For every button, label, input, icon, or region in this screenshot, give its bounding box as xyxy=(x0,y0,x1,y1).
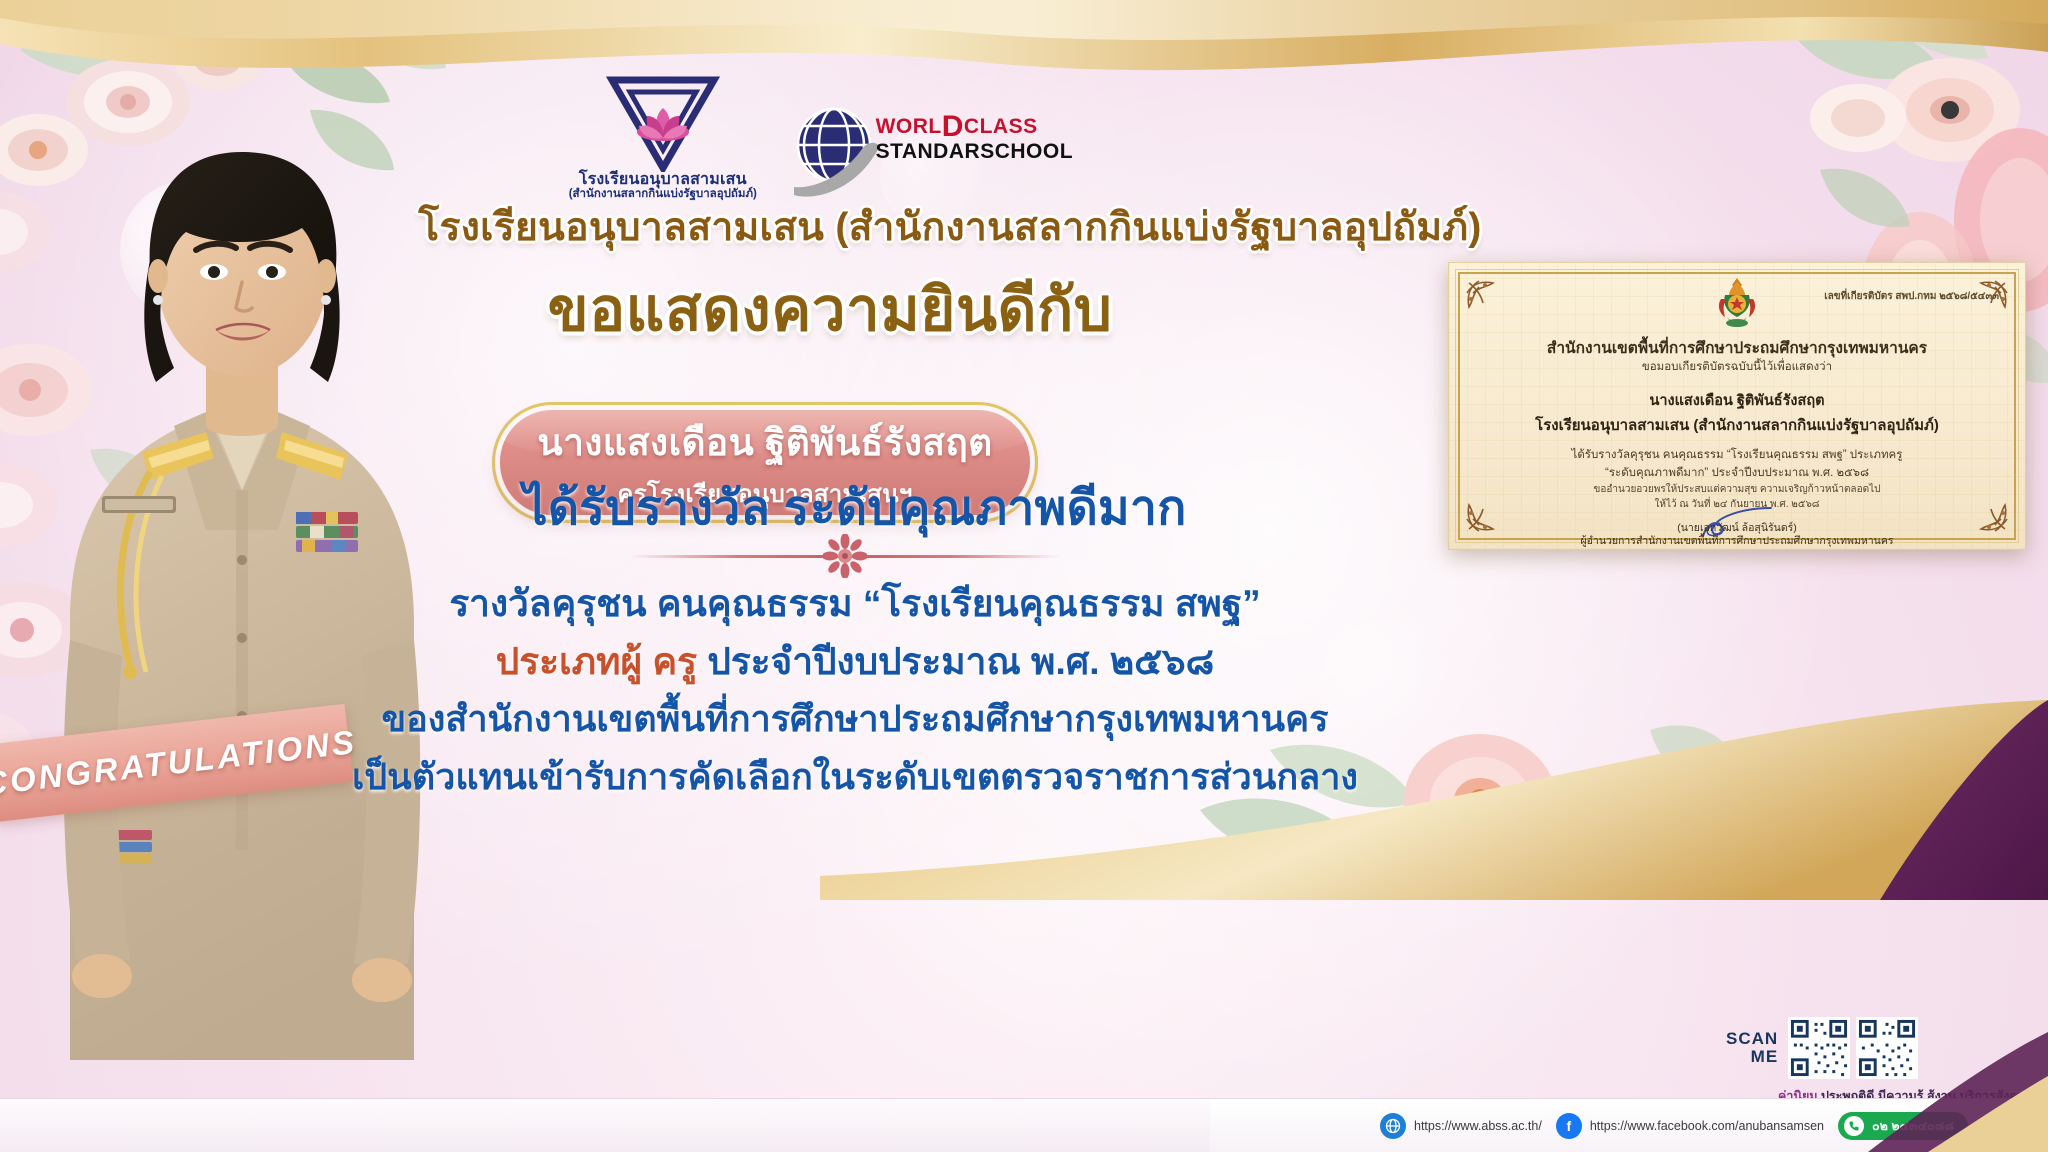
footer-facebook-item[interactable]: f https://www.facebook.com/anubansamsen xyxy=(1556,1113,1824,1139)
scan-text: SCAN xyxy=(1726,1030,1778,1048)
footer-website-url[interactable]: https://www.abss.ac.th/ xyxy=(1414,1119,1542,1133)
wcss-standard-text: STANDAR xyxy=(876,140,981,163)
certificate-body-line-1: ได้รับรางวัลคุรุชน คนคุณธรรม “โรงเรียนคุ… xyxy=(1449,446,2025,464)
footer-bar: https://www.abss.ac.th/ f https://www.fa… xyxy=(0,1098,2048,1152)
wcss-d-letter: D xyxy=(942,110,964,143)
divider-flower-icon xyxy=(823,534,867,578)
footer-website-item[interactable]: https://www.abss.ac.th/ xyxy=(1380,1113,1542,1139)
royal-garuda-emblem-icon xyxy=(1715,277,1759,331)
certificate-recipient-name: นางแสงเดือน ฐิติพันธ์รังสฤต xyxy=(1449,389,2025,412)
scan-me-label: SCAN ME xyxy=(1726,1030,1778,1066)
award-line-3: ประเภทผู้ ครู ประจำปีงบประมาณ พ.ศ. ๒๕๖๘ xyxy=(330,632,1380,691)
school-full-name: โรงเรียนอนุบาลสามเสน (สำนักงานสลากกินแบ่… xyxy=(330,196,1570,258)
certificate-recipient-school: โรงเรียนอนุบาลสามเสน (สำนักงานสลากกินแบ่… xyxy=(1449,413,2025,437)
footer-phone-number[interactable]: ๐๒ ๒๔๓๔๐๘๘ xyxy=(1872,1116,1954,1136)
wcss-class-text: CLASS xyxy=(964,115,1038,138)
certificate-corner-ornament-tl xyxy=(1463,277,1503,317)
facebook-icon: f xyxy=(1556,1113,1582,1139)
globe-icon xyxy=(788,101,888,201)
school-emblem-icon xyxy=(604,72,722,172)
wcss-world-text: WORL xyxy=(876,115,942,138)
school-logo: โรงเรียนอนุบาลสามเสน (สำนักงานสลากกินแบ่… xyxy=(556,72,770,201)
certificate-body-line-3: ขออำนวยอวยพรให้ประสบแต่ความสุข ความเจริญ… xyxy=(1449,482,2025,497)
footer-contact-items: https://www.abss.ac.th/ f https://www.fa… xyxy=(1380,1099,1968,1152)
certificate-image: เลขที่เกียรติบัตร สพป.กทม ๒๕๖๘/๕๔๓๓ สำนั… xyxy=(1448,262,2026,550)
me-text: ME xyxy=(1726,1048,1778,1066)
world-class-standard-school-logo: WORLDCLASS STANDARSCHOOL xyxy=(788,101,1026,201)
footer-phone-item[interactable]: ๐๒ ๒๔๓๔๐๘๘ xyxy=(1838,1112,1968,1140)
award-line-5: เป็นตัวแทนเข้ารับการคัดเลือกในระดับเขตตร… xyxy=(330,748,1380,805)
certificate-issuer: สำนักงานเขตพื้นที่การศึกษาประถมศึกษากรุง… xyxy=(1449,335,2025,360)
school-logo-line1: โรงเรียนอนุบาลสามเสน xyxy=(556,172,770,189)
footer-left-panel xyxy=(0,1099,1210,1152)
wcss-wordmark: WORLDCLASS STANDARSCHOOL xyxy=(876,115,1073,163)
certificate-body-line-2: “ระดับคุณภาพดีมาก” ประจำปีงบประมาณ พ.ศ. … xyxy=(1449,464,2025,482)
ornament-divider xyxy=(630,536,1060,576)
globe-icon xyxy=(1380,1113,1406,1139)
certificate-signer-title: ผู้อำนวยการสำนักงานเขตพื้นที่การศึกษาประ… xyxy=(1449,532,2025,549)
banner-canvas: โรงเรียนอนุบาลสามเสน (สำนักงานสลากกินแบ่… xyxy=(0,0,2048,1152)
qr-code-website-icon[interactable] xyxy=(1788,1017,1850,1079)
certificate-preamble: ขอมอบเกียรติบัตรฉบับนี้ไว้เพื่อแสดงว่า xyxy=(1449,358,2025,376)
scan-me-block: SCAN ME xyxy=(1726,1010,2026,1086)
award-line-3-highlight: ประเภทผู้ ครู xyxy=(496,641,697,682)
honoree-name: นางแสงเดือน ฐิติพันธ์รังสฤต xyxy=(537,413,992,472)
logo-row: โรงเรียนอนุบาลสามเสน (สำนักงานสลากกินแบ่… xyxy=(556,16,1026,201)
certificate-number: เลขที่เกียรติบัตร สพป.กทม ๒๕๖๘/๕๔๓๓ xyxy=(1824,289,1999,304)
award-line-4: ของสำนักงานเขตพื้นที่การศึกษาประถมศึกษาก… xyxy=(330,690,1380,747)
footer-facebook-url[interactable]: https://www.facebook.com/anubansamsen xyxy=(1590,1119,1824,1133)
qr-code-pair xyxy=(1788,1017,1918,1079)
award-line-3-rest: ประจำปีงบประมาณ พ.ศ. ๒๕๖๘ xyxy=(697,641,1214,682)
congratulation-heading: ขอแสดงความยินดีกับ xyxy=(330,262,1330,357)
qr-code-facebook-icon[interactable] xyxy=(1856,1017,1918,1079)
award-line-2: รางวัลคุรุชน คนคุณธรรม “โรงเรียนคุณธรรม … xyxy=(330,574,1380,633)
phone-icon xyxy=(1844,1116,1864,1136)
wcss-school-text: SCHOOL xyxy=(980,140,1073,163)
